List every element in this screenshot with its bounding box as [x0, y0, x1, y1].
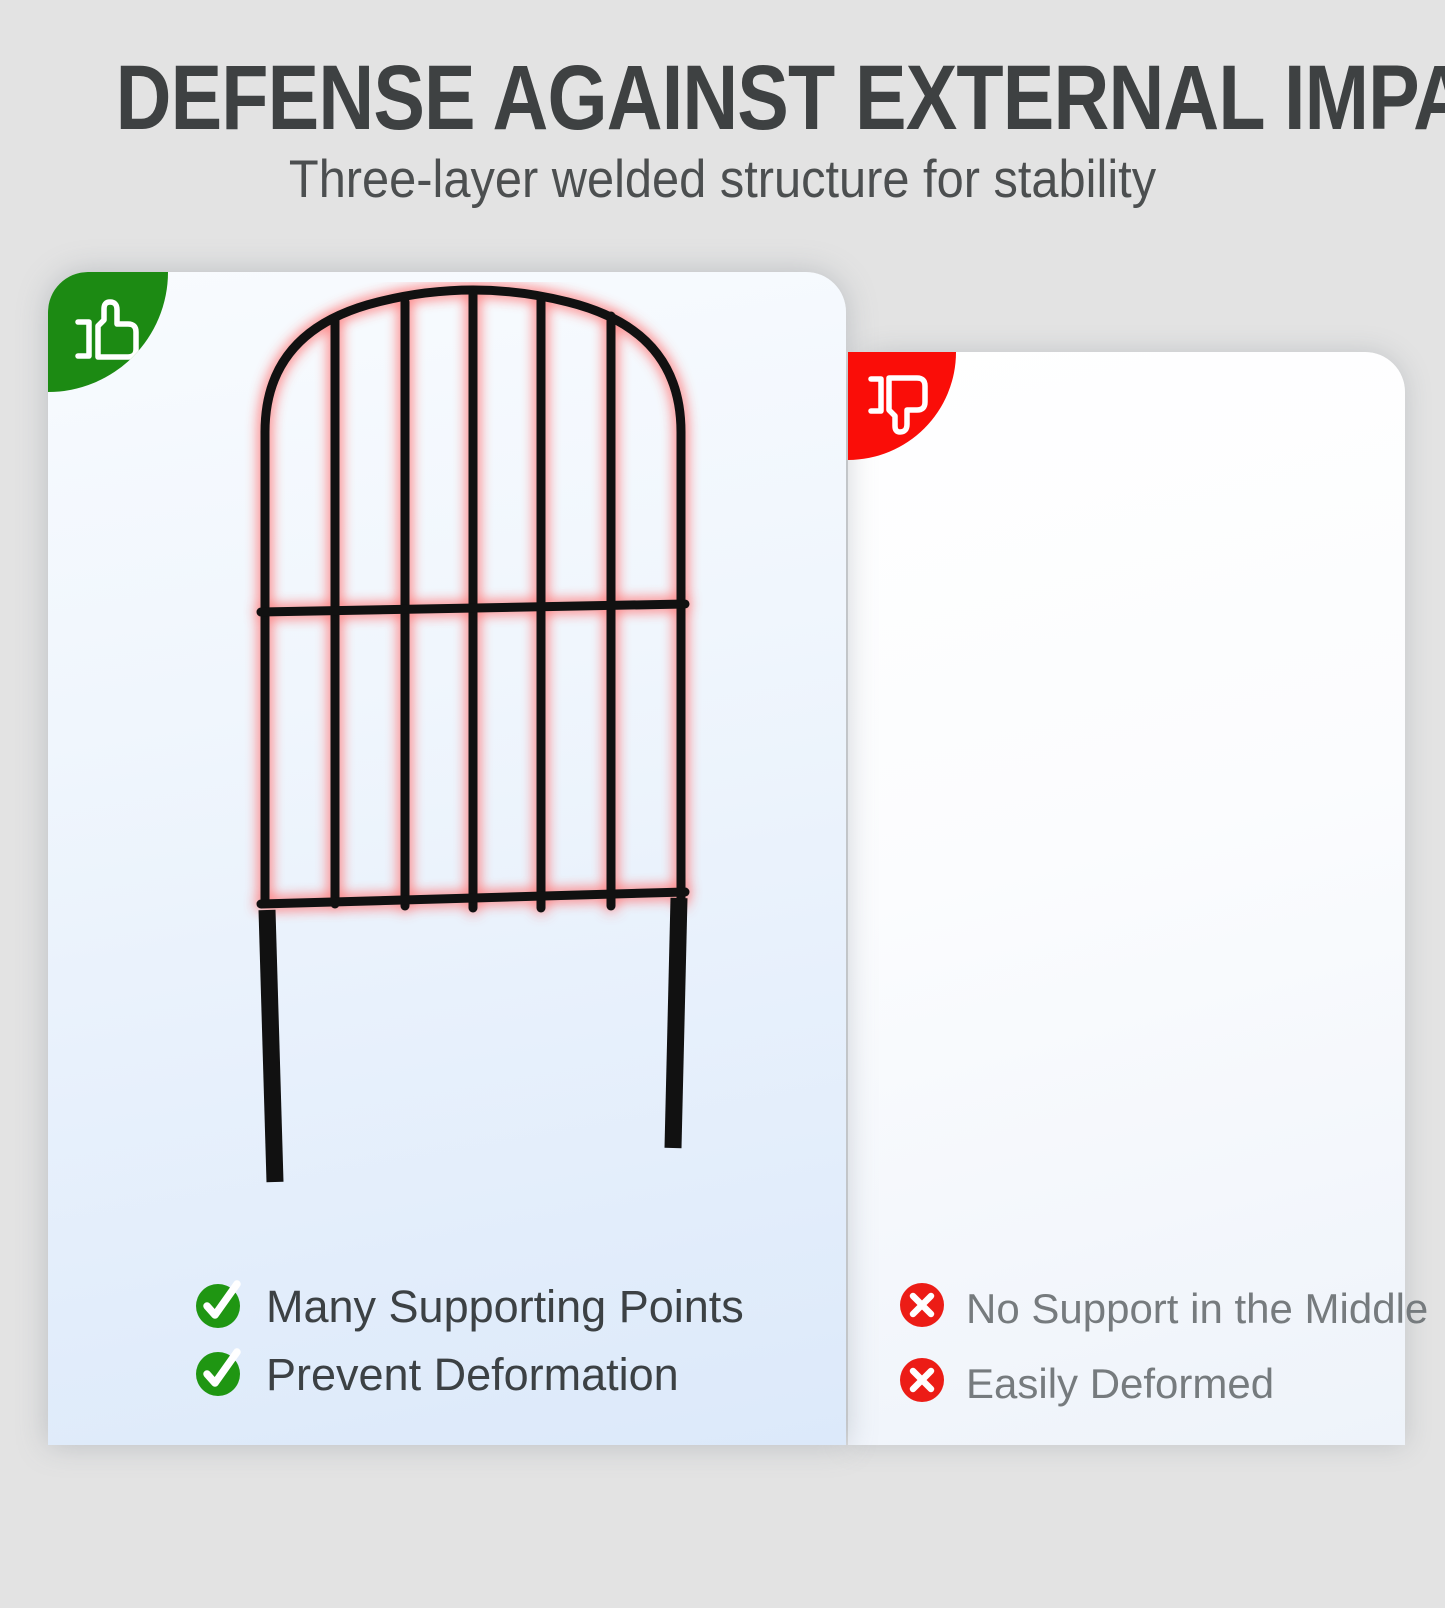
check-circle-icon — [196, 1353, 240, 1397]
thumbs-down-icon — [862, 366, 938, 442]
page-subtitle: Three-layer welded structure for stabili… — [58, 152, 1387, 208]
comparison-card-ours: Ours Many Supporting Points Prevent Defo… — [48, 272, 846, 1445]
feature-list-others: No Support in the Middle Easily Deformed — [900, 1285, 1428, 1435]
check-circle-icon — [196, 1285, 240, 1329]
list-item: Prevent Deformation — [196, 1351, 744, 1399]
product-image-ours — [243, 282, 703, 1212]
comparison-card-others: Others No Support in the Middle Easily D… — [848, 352, 1405, 1445]
thumbs-up-icon — [70, 290, 150, 370]
header: DEFENSE AGAINST EXTERNAL IMPACT Three-la… — [0, 0, 1445, 240]
list-item-label: No Support in the Middle — [966, 1285, 1428, 1333]
list-item: No Support in the Middle — [900, 1285, 1428, 1333]
list-item-label: Many Supporting Points — [266, 1283, 744, 1331]
feature-list-ours: Many Supporting Points Prevent Deformati… — [196, 1283, 744, 1419]
thumbs-up-badge — [48, 272, 168, 392]
list-item: Easily Deformed — [900, 1360, 1428, 1408]
x-circle-icon — [900, 1287, 942, 1331]
page-title: DEFENSE AGAINST EXTERNAL IMPACT — [116, 52, 1330, 144]
list-item: Many Supporting Points — [196, 1283, 744, 1331]
list-item-label: Prevent Deformation — [266, 1351, 679, 1399]
x-circle-icon — [900, 1362, 942, 1406]
list-item-label: Easily Deformed — [966, 1360, 1274, 1408]
